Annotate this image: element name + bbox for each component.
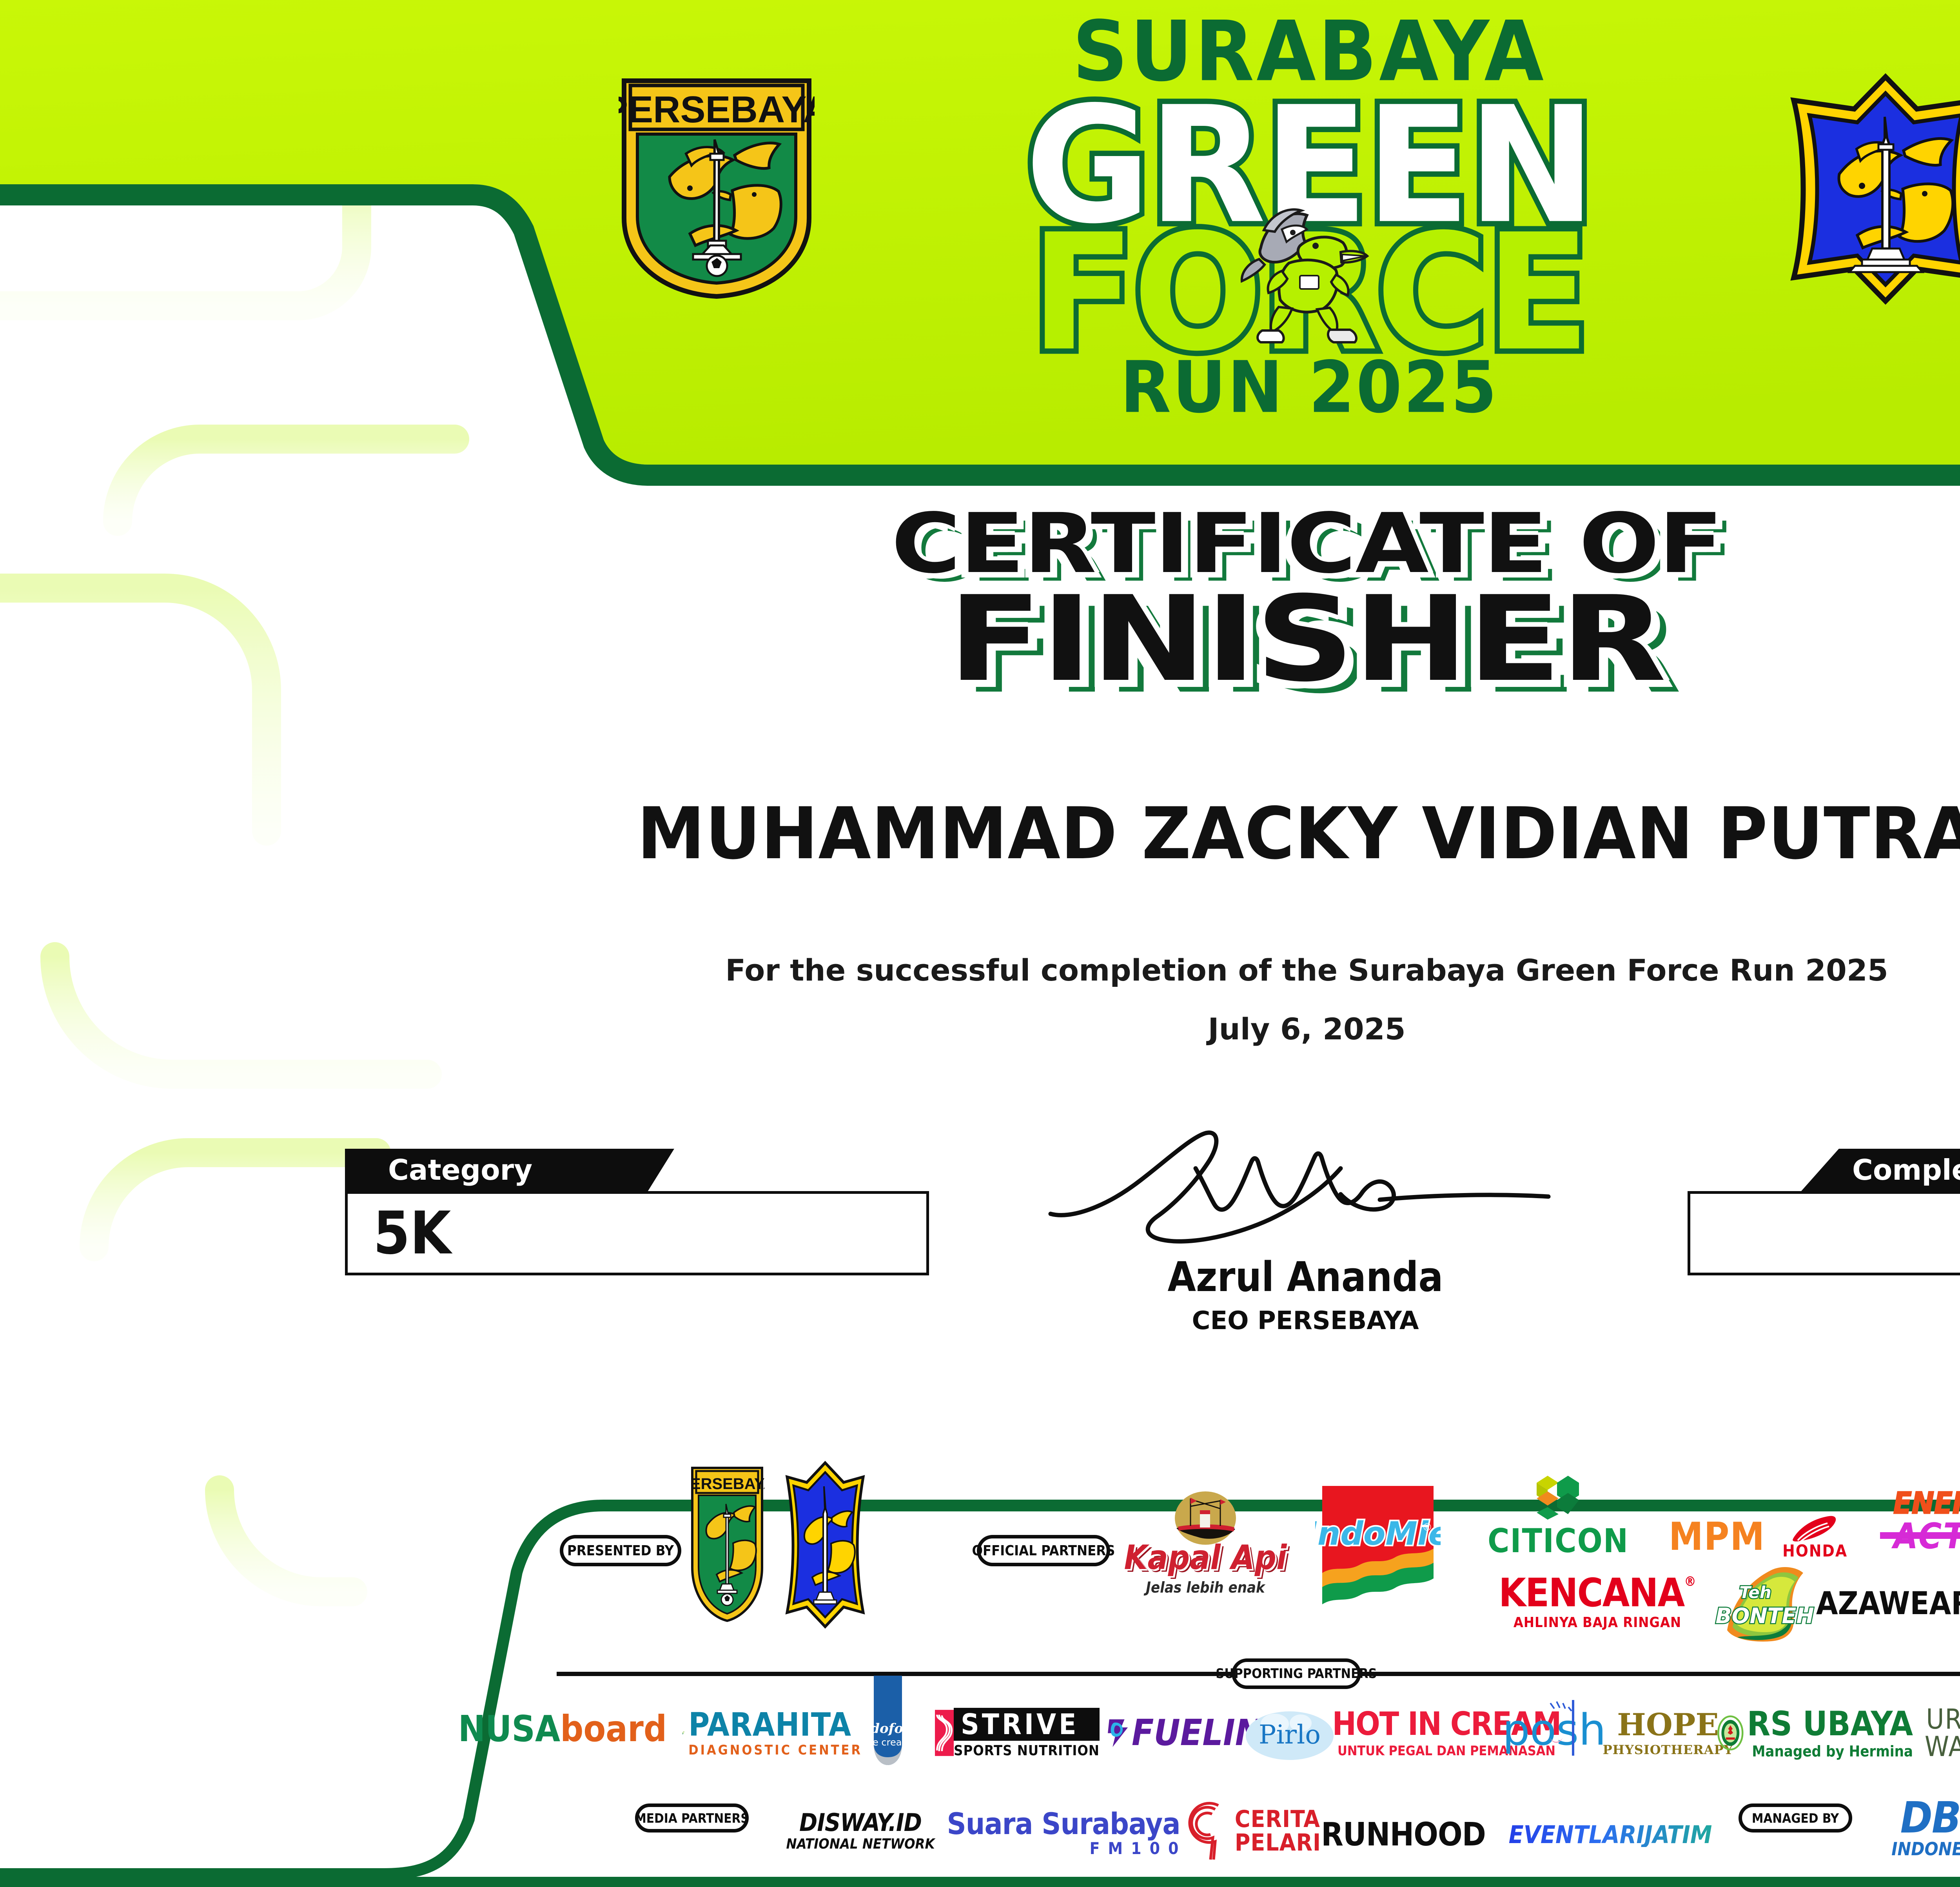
disway-tagline: NATIONAL NETWORK [786,1837,935,1851]
azawear-wordmark: AZAWEAR.COM [1816,1588,1960,1619]
parahita-wordmark: PARAHITA [688,1709,862,1741]
signature-block: Azrul Ananda CEO PERSEBAYA [1000,1121,1611,1335]
strive-mark-icon [935,1707,954,1759]
category-label: Category [345,1149,674,1191]
hope-wordmark: HOPE [1617,1710,1719,1740]
completion-time-label: Completion Time [1801,1149,1960,1191]
enervon-wordmark: ENERVON [1893,1488,1960,1518]
logo-kapal-api: Kapal Api Jelas lebih enak [1123,1472,1288,1613]
logo-strive: STRIVE SPORTS NUTRITION [935,1704,1100,1762]
recipient-subline: For the successful completion of the Sur… [0,953,1960,988]
indomie-wordmark: IndoMie [1315,1515,1441,1553]
footer-persebaya-crest-icon: PERSEBAYA [690,1466,764,1623]
bottom-accent-strip [0,1877,1960,1887]
nusaboard-word-nusa: NUSA [458,1711,560,1747]
teh-bonteh-word-bonteh: BONTEH [1715,1604,1814,1628]
category-value: 5K [345,1191,929,1275]
pirlo-wordmark: Pirlo [1259,1720,1321,1750]
citicon-wordmark: CITICON [1488,1524,1629,1557]
hope-tagline: PHYSIOTHERAPY [1603,1744,1733,1756]
logo-suara-surabaya: Suara Surabaya F M 1 0 0 [958,1803,1166,1862]
event-logo: SURABAYA GREEN FORCE RUN 2025 [980,4,1639,435]
logo-nusaboard: NUSA board [459,1702,662,1756]
header-band: PERSEBAYA [0,0,1960,482]
event-date: July 6, 2025 [0,1012,1960,1046]
persebaya-crest-label: PERSEBAYA [619,89,815,131]
runhood-wordmark: RUNHOOD [1321,1819,1486,1851]
signatory-name: Azrul Ananda [1000,1253,1611,1301]
chip-supporting-partners: SUPPORTING PARTNERS [1232,1658,1361,1689]
title-line-1: CERTIFICATE OF [0,506,1960,581]
dbl-wordmark: DBL [1900,1796,1960,1839]
category-box: Category 5K [345,1149,929,1275]
eventlarijatim-wordmark: EVENTLARIJATIM [1509,1823,1712,1847]
footer-surabaya-city-crest-icon [784,1460,866,1629]
posh-wordmark: posh [1503,1705,1605,1755]
enervon-active-wordmark: ACTIVE [1893,1519,1960,1554]
event-logo-line-run2025: RUN 2025 [980,346,1639,429]
footer-persebaya-crest-label: PERSEBAYA [690,1475,764,1493]
parahita-tagline: DIAGNOSTIC CENTER [688,1744,862,1757]
logo-enervon-active: ENERVON ACTIVE [1893,1480,1960,1562]
chip-media-partners: MEDIA PARTNERS [635,1803,749,1833]
logo-runhood: RUNHOOD [1321,1811,1486,1858]
fuelin-mark-icon [1105,1707,1132,1758]
suara-surabaya-wordmark: Suara Surabaya [947,1809,1180,1839]
strive-wordmark: STRIVE [961,1710,1093,1738]
rs-ubaya-wordmark: RS UBAYA [1747,1707,1913,1741]
completion-time-value: 00:59:22 [1688,1191,1960,1275]
certificate-title: CERTIFICATE OF FINISHER [0,506,1960,694]
signatory-role: CEO PERSEBAYA [1000,1306,1611,1335]
logo-dbl-indonesia: DBL INDONESIA [1878,1788,1960,1866]
pelari-wordmark: PELARI [1235,1831,1321,1854]
rs-ubaya-tagline: Managed by Hermina [1747,1744,1913,1759]
logo-eventlarijatim: EVENTLARIJATIM [1507,1805,1711,1864]
urban-wagyu-word-wagyu: WAGYU [1925,1733,1960,1760]
title-line-2: FINISHER [0,585,1960,694]
logo-indofood-ice-cream: Indofood ice cream [857,1674,919,1768]
disway-wordmark: DISWAY.ID [799,1811,922,1835]
surabaya-city-crest-icon [1788,71,1960,307]
chip-presented-by: PRESENTED BY [560,1535,681,1566]
completion-time-box: Completion Time 00:59:22 [1688,1149,1960,1275]
logo-rs-ubaya: RS UBAYA Managed by Hermina [1717,1698,1913,1768]
indofood-wordmark: Indofood [860,1721,915,1736]
logo-kencana: KENCANA ® AHLINYA BAJA RINGAN [1509,1568,1686,1635]
chip-official-partners: OFFICIAL PARTNERS [977,1535,1110,1566]
supporting-divider-right [1357,1672,1960,1676]
urban-wagyu-word-urban: URBAN [1926,1705,1960,1733]
mpm-wordmark: MPM [1669,1518,1765,1556]
logo-citicon: CITICON [1494,1470,1623,1560]
nusaboard-word-board: board [560,1711,667,1747]
logo-disway-id: DISWAY.ID NATIONAL NETWORK [782,1803,939,1858]
kencana-registered-mark: ® [1684,1575,1696,1588]
signature-icon [1027,1121,1584,1251]
parahita-mark-icon [682,1707,684,1758]
logo-pirlo: Pirlo [1237,1707,1343,1762]
logo-hope-physiotherapy: HOPE PHYSIOTHERAPY [1611,1702,1725,1764]
certificate-page: PERSEBAYA [0,0,1960,1887]
persebaya-crest-icon: PERSEBAYA [619,77,815,300]
kencana-tagline: AHLINYA BAJA RINGAN [1514,1616,1681,1630]
teh-bonteh-word-teh: Teh [1739,1583,1771,1602]
kapal-api-tagline: Jelas lebih enak [1146,1580,1265,1595]
strive-tagline: SPORTS NUTRITION [954,1744,1100,1758]
rs-ubaya-mark-icon [1717,1702,1744,1764]
logo-urban-wagyu: URBAN WAGYU [1915,1698,1960,1768]
cerita-pelari-mark-icon [1188,1801,1235,1862]
indofood-ice-cream-tagline: ice cream [865,1737,911,1748]
chip-managed-by: MANAGED BY [1739,1803,1852,1833]
logo-mpm-honda: MPM HONDA [1676,1502,1840,1572]
suara-surabaya-tagline: F M 1 0 0 [947,1840,1180,1857]
honda-wing-icon [1791,1515,1838,1544]
kencana-wordmark: KENCANA [1499,1573,1684,1613]
logo-indomie: IndoMie ® [1311,1482,1445,1611]
mascot-shark-crocodile-icon [1223,186,1388,351]
svg-text:®: ® [1422,1522,1432,1533]
honda-wordmark: HONDA [1782,1543,1847,1559]
logo-teh-bonteh: Teh BONTEH [1709,1564,1827,1643]
logo-azawear: AZAWEAR.COM [1827,1582,1960,1625]
logo-parahita: PARAHITA DIAGNOSTIC CENTER [682,1705,862,1760]
kapal-api-wordmark: Kapal Api [1124,1541,1287,1575]
logo-posh: posh [1497,1686,1611,1764]
logo-cerita-pelari: CERITA PELARI [1180,1800,1329,1862]
cerita-wordmark: CERITA [1235,1807,1321,1831]
header-content: PERSEBAYA [0,0,1960,463]
dbl-indonesia-tagline: INDONESIA [1891,1840,1960,1858]
recipient-name: MUHAMMAD ZACKY VIDIAN PUTRA [0,792,1960,875]
citicon-mark-icon [1533,1473,1584,1520]
